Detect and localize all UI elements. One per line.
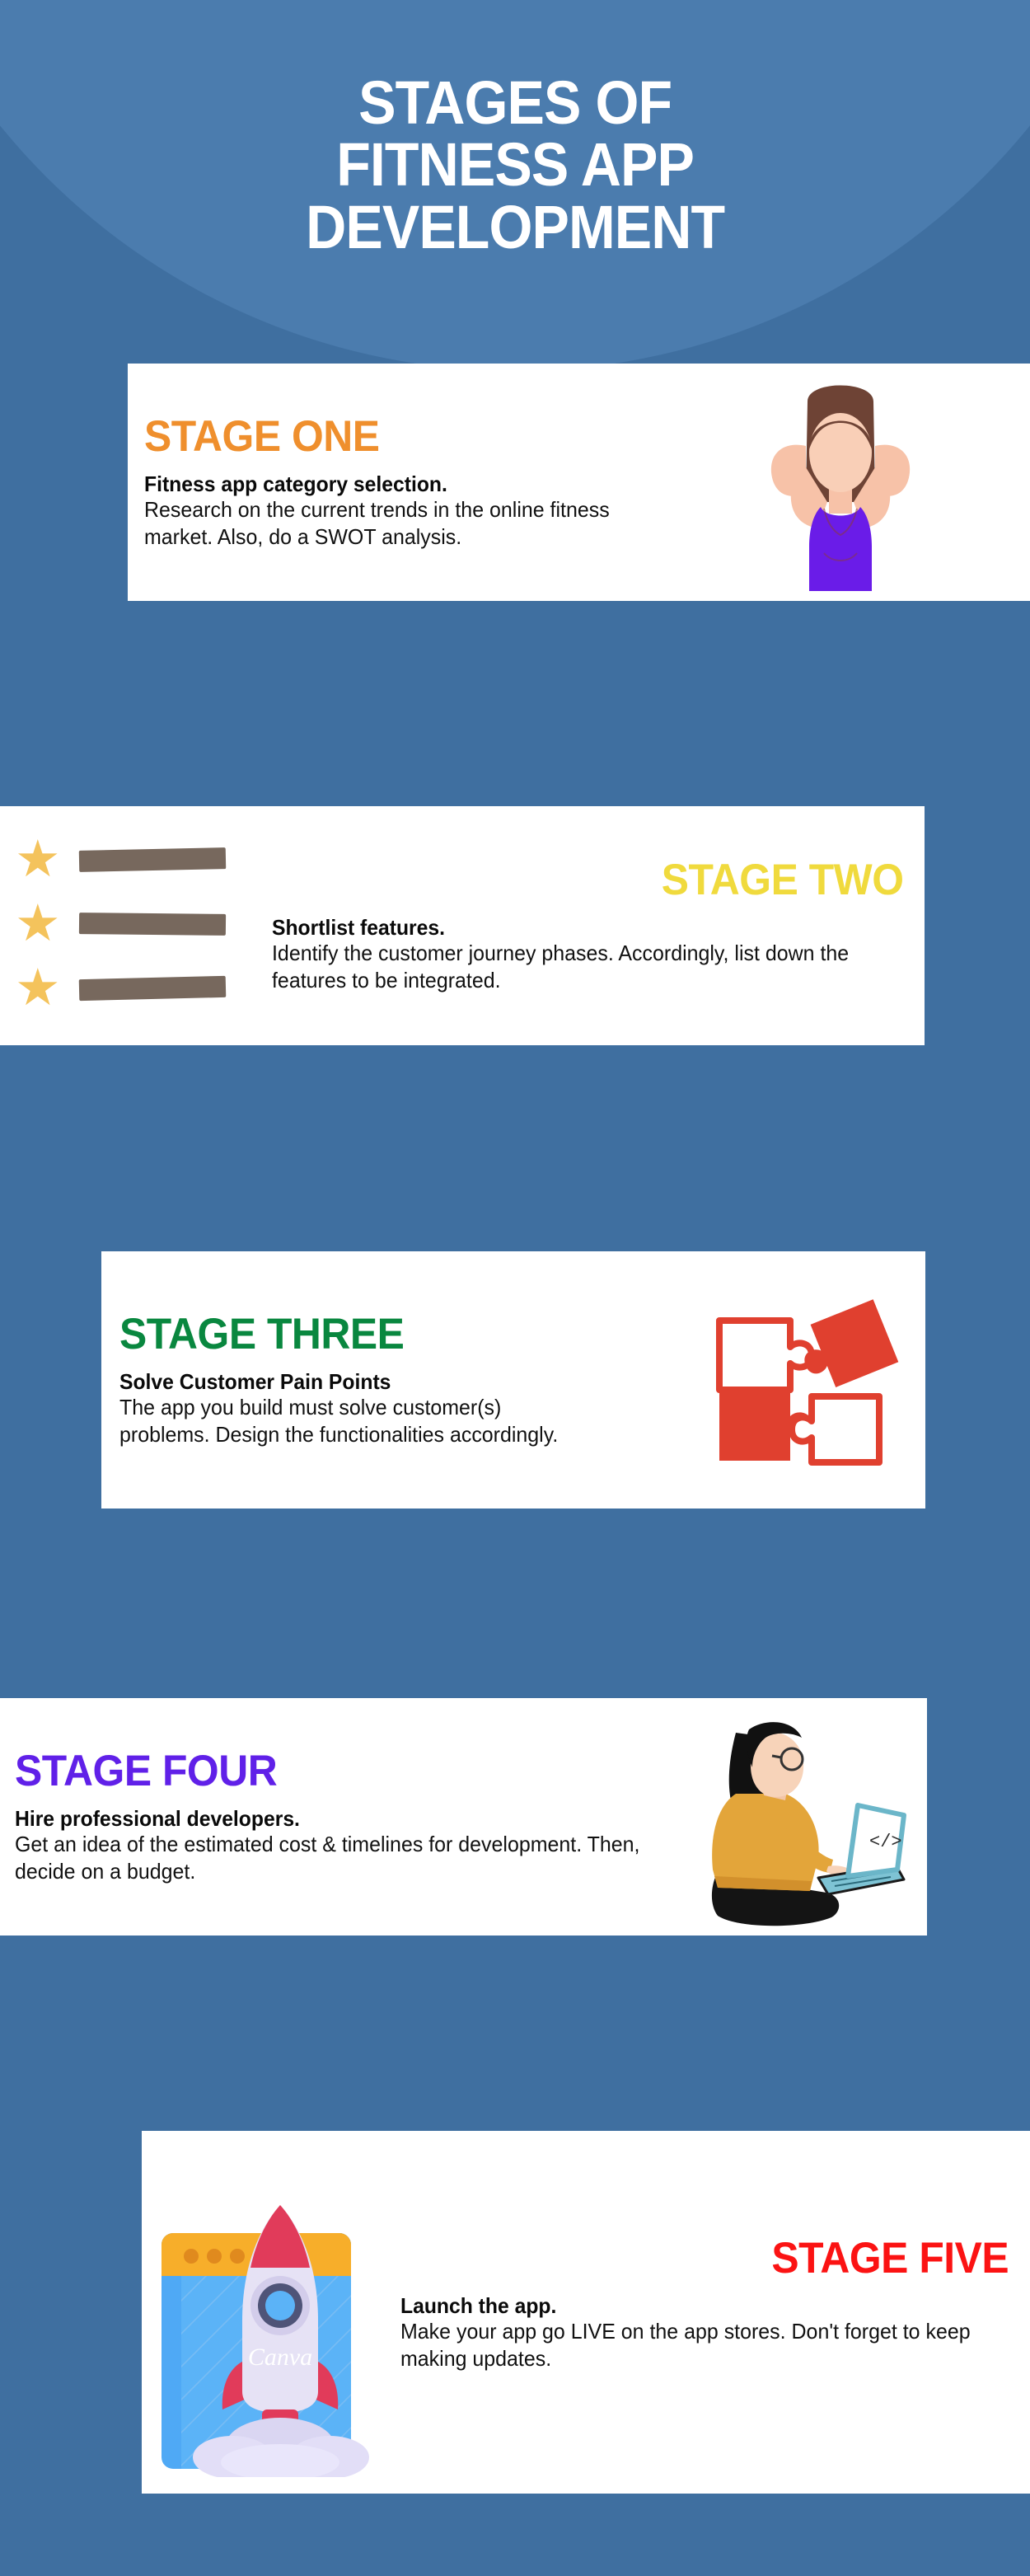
stage-five-subtitle: Launch the app. bbox=[400, 2293, 556, 2318]
stage-one-subtitle: Fitness app category selection. bbox=[144, 472, 614, 496]
stage-two-text-column: STAGE TWO Shortlist features. Identify t… bbox=[272, 858, 903, 993]
stage-card-three: STAGE THREE Solve Customer Pain Points T… bbox=[101, 1251, 925, 1509]
stage-card-two: ★ ★ ★ STAGE TWO Shortlist features. Iden… bbox=[0, 806, 925, 1045]
page-title: STAGES OF FITNESS APP DEVELOPMENT bbox=[306, 72, 724, 258]
stage-four-body: Get an idea of the estimated cost & time… bbox=[15, 1831, 672, 1884]
developer-laptop-illustration: </> bbox=[657, 1705, 912, 1936]
stage-five-heading: STAGE FIVE bbox=[771, 2236, 1009, 2280]
svg-text:</>: </> bbox=[869, 1832, 902, 1852]
stage-four-subtitle: Hire professional developers. bbox=[15, 1806, 665, 1831]
stage-two-subtitle: Shortlist features. bbox=[272, 915, 445, 940]
stage-one-text-column: STAGE ONE Fitness app category selection… bbox=[144, 415, 639, 550]
stage-three-body: The app you build must solve customer(s)… bbox=[119, 1394, 594, 1447]
flexing-woman-illustration bbox=[742, 370, 939, 594]
stage-card-five: Canva STAGE FIVE Launch the app. Make yo… bbox=[142, 2131, 1030, 2494]
star-icon: ★ bbox=[15, 899, 61, 950]
puzzle-pieces-illustration bbox=[711, 1286, 917, 1484]
star-icon: ★ bbox=[15, 963, 61, 1014]
stage-one-body: Research on the current trends in the on… bbox=[144, 496, 619, 549]
rocket-launch-illustration: Canva bbox=[153, 2197, 400, 2477]
stage-four-text-column: STAGE FOUR Hire professional developers.… bbox=[15, 1749, 699, 1884]
stage-two-body: Identify the customer journey phases. Ac… bbox=[272, 940, 878, 992]
stage-four-heading: STAGE FOUR bbox=[15, 1749, 658, 1793]
stage-one-heading: STAGE ONE bbox=[144, 415, 609, 458]
stage-three-subtitle: Solve Customer Pain Points bbox=[119, 1369, 589, 1394]
stage-card-one: STAGE ONE Fitness app category selection… bbox=[128, 364, 1030, 601]
checklist-bar bbox=[78, 847, 226, 872]
stage-five-text-column: STAGE FIVE Launch the app. Make your app… bbox=[400, 2236, 1009, 2388]
stage-five-body: Make your app go LIVE on the app stores.… bbox=[400, 2318, 984, 2371]
stage-card-four: STAGE FOUR Hire professional developers.… bbox=[0, 1698, 927, 1936]
star-icon: ★ bbox=[15, 834, 61, 885]
rocket-badge-text: Canva bbox=[248, 2344, 312, 2371]
checklist-bar bbox=[78, 913, 225, 936]
stage-three-heading: STAGE THREE bbox=[119, 1312, 584, 1356]
checklist-bar bbox=[78, 976, 226, 1001]
star-checklist-illustration: ★ ★ ★ bbox=[0, 823, 272, 1029]
stage-three-text-column: STAGE THREE Solve Customer Pain Points T… bbox=[119, 1312, 614, 1448]
stage-two-heading: STAGE TWO bbox=[661, 858, 903, 902]
infographic-header: STAGES OF FITNESS APP DEVELOPMENT bbox=[0, 0, 1030, 330]
